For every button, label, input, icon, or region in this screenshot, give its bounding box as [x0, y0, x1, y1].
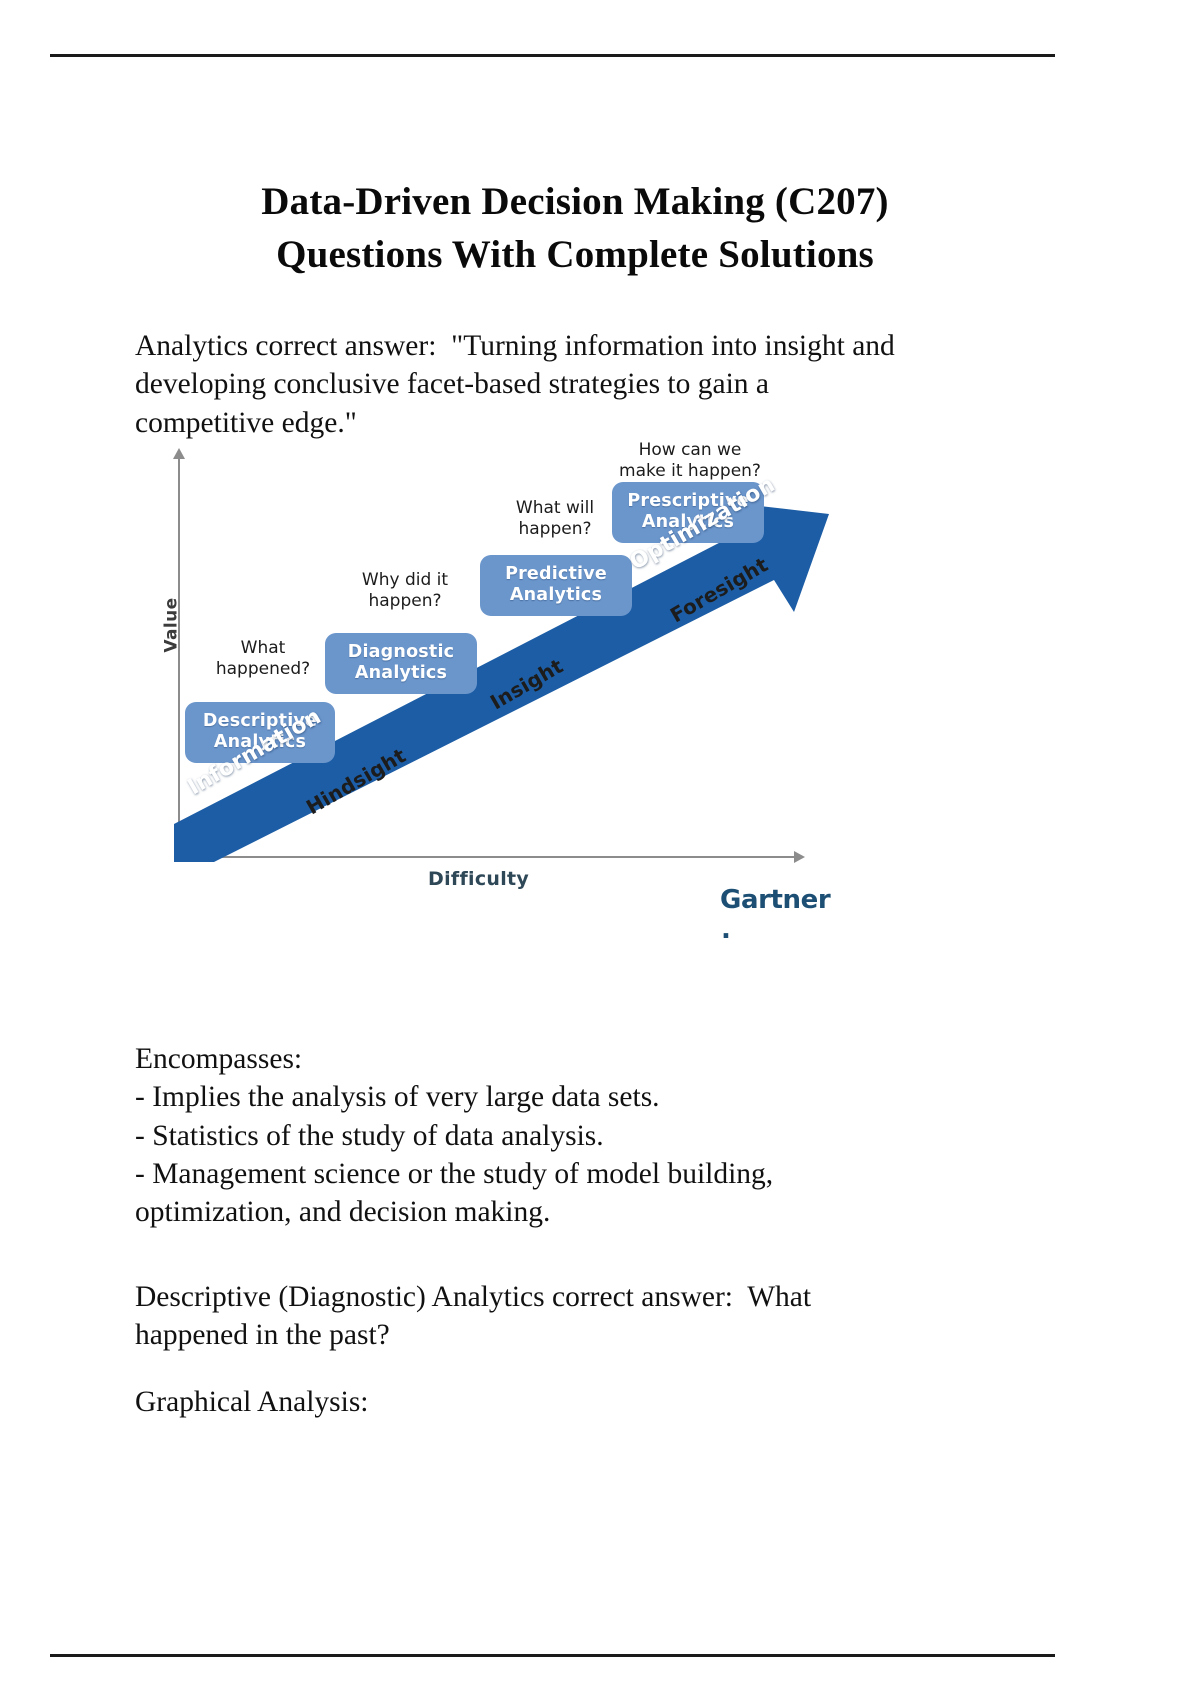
question-descriptive-line-1: What: [198, 638, 328, 659]
gartner-logo: Gartner.: [720, 885, 840, 945]
encompasses-line-1: Encompasses:: [135, 1040, 1025, 1078]
page-title: Data-Driven Decision Making (C207) Quest…: [135, 176, 1015, 281]
paragraph-analytics: Analytics correct answer: "Turning infor…: [135, 327, 1025, 442]
question-diagnostic-line-1: Why did it: [345, 570, 465, 591]
encompasses-line-4: - Management science or the study of mod…: [135, 1155, 1025, 1193]
gartner-logo-dot: .: [721, 915, 730, 945]
question-predictive: What will happen?: [495, 498, 615, 541]
paragraph-graphical-analysis: Graphical Analysis:: [135, 1383, 1025, 1421]
encompasses-line-3: - Statistics of the study of data analys…: [135, 1117, 1025, 1155]
encompasses-line-5: optimization, and decision making.: [135, 1193, 1025, 1231]
question-prescriptive-line-1: How can we: [605, 440, 775, 461]
stage-diagnostic-analytics: Diagnostic Analytics: [325, 633, 477, 694]
question-prescriptive-line-2: make it happen?: [605, 461, 775, 482]
question-descriptive-line-2: happened?: [198, 659, 328, 680]
title-line-1: Data-Driven Decision Making (C207): [135, 176, 1015, 229]
question-prescriptive: How can we make it happen?: [605, 440, 775, 483]
stage-predictive-analytics: Predictive Analytics: [480, 555, 632, 616]
document-page: Data-Driven Decision Making (C207) Quest…: [0, 0, 1200, 1700]
question-diagnostic-line-2: happen?: [345, 591, 465, 612]
question-diagnostic: Why did it happen?: [345, 570, 465, 613]
axis-label-difficulty: Difficulty: [428, 868, 529, 890]
descriptive-line-1: Descriptive (Diagnostic) Analytics corre…: [135, 1278, 1025, 1316]
question-descriptive: What happened?: [198, 638, 328, 681]
paragraph-encompasses: Encompasses: - Implies the analysis of v…: [135, 1040, 1025, 1232]
stage-diagnostic-line-2: Analytics: [337, 663, 465, 684]
value-axis-arrowhead: [173, 448, 185, 459]
gartner-wordmark: Gartner: [720, 885, 830, 915]
analytics-line-3: competitive edge.": [135, 404, 1025, 442]
stage-predictive-line-2: Analytics: [492, 585, 620, 606]
title-line-2: Questions With Complete Solutions: [135, 229, 1015, 282]
stage-diagnostic-line-1: Diagnostic: [337, 642, 465, 663]
encompasses-line-2: - Implies the analysis of very large dat…: [135, 1078, 1025, 1116]
stage-predictive-line-1: Predictive: [492, 564, 620, 585]
analytics-line-2: developing conclusive facet-based strate…: [135, 365, 1025, 403]
header-rule: [50, 54, 1055, 57]
graphical-line-1: Graphical Analysis:: [135, 1383, 1025, 1421]
question-predictive-line-1: What will: [495, 498, 615, 519]
question-predictive-line-2: happen?: [495, 519, 615, 540]
paragraph-descriptive-answer: Descriptive (Diagnostic) Analytics corre…: [135, 1278, 1025, 1355]
footer-rule: [50, 1654, 1055, 1657]
analytics-line-1: Analytics correct answer: "Turning infor…: [135, 327, 1025, 365]
descriptive-line-2: happened in the past?: [135, 1316, 1025, 1354]
gartner-analytics-diagram: Value Difficulty What happened? Descript…: [160, 440, 840, 920]
